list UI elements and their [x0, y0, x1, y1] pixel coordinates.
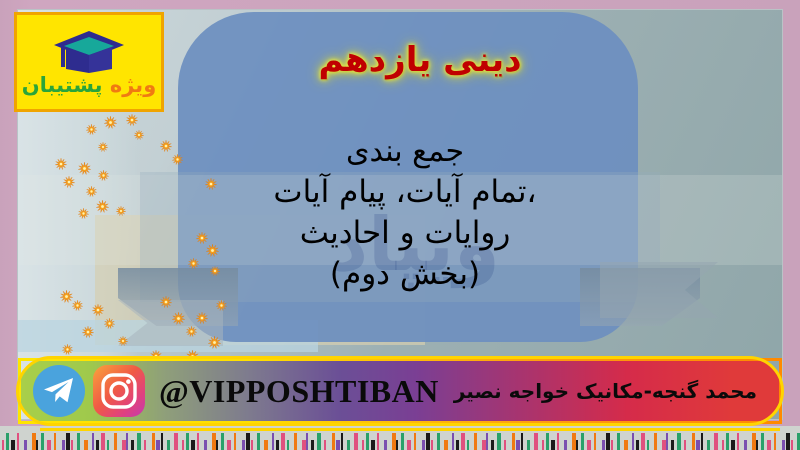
social-contact-bar: @VIPPOSHTIBAN محمد گنجه-مکانیک خواجه نصی…	[18, 358, 782, 424]
starburst-icon	[62, 344, 73, 355]
color-key	[581, 433, 584, 450]
color-key	[384, 440, 387, 450]
color-key	[257, 433, 260, 450]
brand-logo-text: ویژه پشتیبان	[22, 75, 157, 96]
slide-title: دینی یازدهم	[200, 40, 640, 80]
color-key	[242, 440, 245, 450]
color-key	[362, 440, 364, 450]
color-key	[692, 433, 695, 450]
color-key	[377, 433, 379, 450]
starburst-icon	[116, 206, 126, 216]
color-key	[431, 440, 433, 450]
starburst-icon	[186, 326, 197, 337]
starburst-icon	[55, 158, 67, 170]
starburst-icon	[86, 124, 97, 135]
color-key	[521, 433, 523, 450]
color-key	[347, 440, 350, 450]
color-key	[551, 440, 555, 450]
color-key	[707, 440, 710, 450]
key-strip-rule	[40, 428, 780, 431]
telegram-icon[interactable]	[33, 365, 85, 417]
author-credit: محمد گنجه-مکانیک خواجه نصیر	[454, 379, 757, 403]
color-key	[677, 433, 681, 450]
color-key	[491, 440, 494, 450]
starburst-icon	[78, 208, 89, 219]
color-key	[96, 440, 99, 450]
color-key	[737, 433, 739, 450]
color-key	[594, 433, 596, 450]
starburst-icon	[172, 312, 185, 325]
starburst-icon	[72, 300, 83, 311]
color-key	[486, 433, 488, 450]
color-key	[744, 440, 747, 450]
starburst-icon	[126, 114, 138, 126]
color-key	[452, 433, 454, 450]
starburst-icon	[92, 304, 104, 316]
color-key	[197, 433, 199, 450]
starburst-icon	[118, 336, 128, 346]
color-key	[354, 433, 358, 450]
color-key	[602, 440, 605, 450]
color-key	[791, 440, 793, 450]
color-key	[782, 440, 785, 450]
color-key	[456, 440, 459, 450]
color-key	[17, 433, 19, 450]
color-key	[66, 433, 70, 450]
starburst-icon	[134, 130, 144, 140]
color-key	[191, 440, 195, 450]
color-key	[101, 433, 105, 450]
color-key	[647, 440, 649, 450]
color-key	[606, 433, 610, 450]
color-key	[216, 440, 218, 450]
color-key	[221, 433, 224, 450]
starburst-icon	[82, 326, 94, 338]
body-line-3: روایات و احادیث	[170, 213, 640, 254]
starburst-icon	[216, 300, 227, 311]
starburst-icon	[98, 142, 108, 152]
color-key	[696, 440, 700, 450]
color-key	[306, 433, 308, 450]
color-key	[422, 440, 425, 450]
color-key	[461, 433, 465, 450]
starburst-icon	[104, 318, 115, 329]
color-key	[62, 440, 65, 450]
color-key	[587, 440, 591, 450]
color-key	[444, 440, 448, 450]
color-key	[401, 433, 404, 450]
color-key	[722, 440, 724, 450]
body-line-1: جمع بندی	[170, 132, 640, 172]
color-key	[281, 433, 285, 450]
color-key	[534, 433, 538, 450]
starburst-icon	[196, 312, 208, 324]
color-key	[767, 440, 771, 450]
color-key	[684, 440, 686, 450]
color-key	[107, 440, 109, 450]
color-key	[11, 440, 15, 450]
color-key	[287, 440, 289, 450]
color-key	[731, 440, 735, 450]
color-key	[474, 433, 477, 450]
color-key	[756, 440, 758, 450]
color-key	[426, 433, 430, 450]
color-key	[671, 440, 674, 450]
color-key	[407, 440, 411, 450]
color-key	[272, 433, 274, 450]
color-key	[24, 440, 27, 450]
color-key	[276, 440, 279, 450]
body-line-2: تمام آیات، پیام آیات،	[170, 172, 640, 213]
color-key	[294, 433, 297, 450]
bottom-color-key-strip	[0, 426, 800, 450]
brand-logo-card: ویژه پشتیبان	[14, 12, 164, 112]
color-key	[182, 440, 184, 450]
starburst-icon	[160, 296, 172, 308]
presentation-slide: ویپاد ویژه پشتیبان دینی یازدهم جمع بندی …	[0, 0, 800, 450]
color-key	[516, 440, 520, 450]
color-key	[546, 433, 549, 450]
color-key	[324, 440, 326, 450]
color-key	[624, 440, 628, 450]
color-key	[6, 433, 9, 450]
color-key	[246, 433, 250, 450]
starburst-icon	[96, 200, 109, 213]
color-key	[617, 433, 620, 450]
color-key	[504, 440, 506, 450]
color-key	[131, 440, 134, 450]
starburst-icon	[98, 170, 109, 181]
color-key	[611, 440, 613, 450]
slide-body-text: جمع بندی تمام آیات، پیام آیات، روایات و …	[170, 132, 640, 296]
starburst-icon	[86, 186, 97, 197]
color-key	[557, 433, 559, 450]
color-key	[564, 440, 567, 450]
color-key	[512, 433, 515, 450]
color-key	[92, 433, 94, 450]
color-key	[336, 440, 340, 450]
color-key	[167, 440, 170, 450]
color-key	[666, 433, 668, 450]
color-key	[54, 433, 56, 450]
color-key	[774, 433, 776, 450]
color-key	[264, 440, 268, 450]
color-key	[636, 440, 639, 450]
color-key	[41, 433, 44, 450]
starburst-icon	[104, 116, 117, 129]
body-line-4: (بخش دوم)	[170, 254, 640, 295]
color-key	[227, 440, 231, 450]
color-key	[641, 433, 645, 450]
color-key	[251, 440, 253, 450]
color-key	[437, 433, 440, 450]
color-key	[114, 433, 117, 450]
color-key	[174, 433, 178, 450]
color-key	[144, 440, 146, 450]
color-key	[234, 433, 236, 450]
color-key	[632, 433, 634, 450]
starburst-icon	[63, 176, 75, 188]
starburst-icon	[78, 162, 91, 175]
color-key	[654, 433, 657, 450]
color-key	[2, 440, 4, 450]
color-key	[527, 440, 530, 450]
color-key	[71, 440, 73, 450]
brand-word-vijeh: ویژه	[110, 73, 156, 97]
graduation-cap-icon	[52, 29, 126, 73]
color-key	[332, 433, 335, 450]
color-key	[84, 440, 88, 450]
color-key	[317, 433, 321, 450]
color-key	[467, 440, 469, 450]
color-key	[161, 433, 163, 450]
color-key	[414, 433, 416, 450]
color-key	[341, 433, 343, 450]
color-key	[156, 440, 160, 450]
color-key	[36, 440, 38, 450]
social-handle[interactable]: @VIPPOSHTIBAN	[159, 373, 439, 410]
color-key	[47, 440, 51, 450]
color-key	[152, 433, 155, 450]
color-key	[701, 433, 703, 450]
color-key	[186, 433, 189, 450]
starburst-icon	[208, 336, 221, 349]
color-key	[77, 433, 80, 450]
brand-word-poshtiban: پشتیبان	[22, 73, 103, 97]
color-key	[204, 440, 207, 450]
color-key	[366, 433, 369, 450]
color-key	[761, 433, 764, 450]
color-key	[126, 433, 128, 450]
color-key	[396, 440, 398, 450]
color-key	[726, 433, 729, 450]
color-key	[714, 433, 718, 450]
color-key	[137, 433, 141, 450]
color-key	[576, 440, 578, 450]
color-key	[371, 440, 375, 450]
color-key	[786, 433, 790, 450]
color-key	[542, 440, 544, 450]
color-key	[497, 433, 501, 450]
color-key	[311, 440, 314, 450]
instagram-icon[interactable]	[93, 365, 145, 417]
